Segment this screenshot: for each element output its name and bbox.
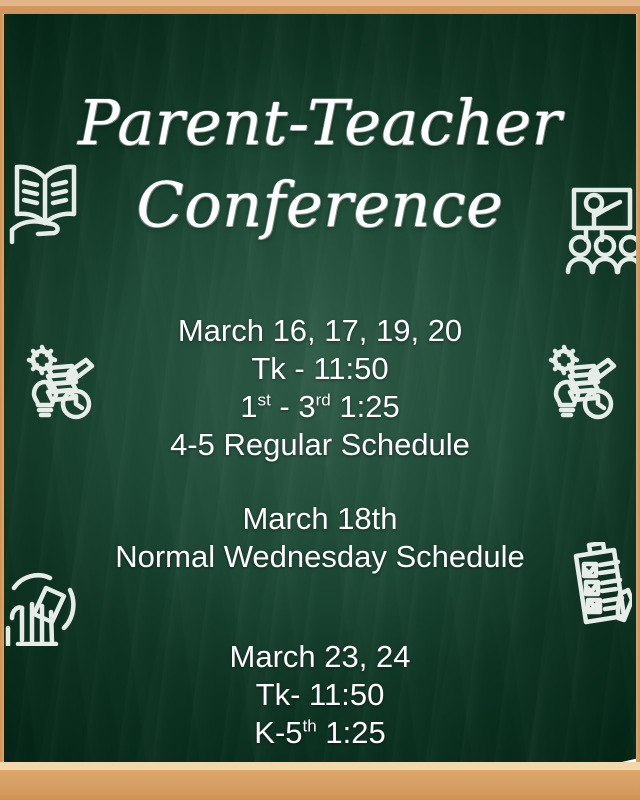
frame-right-edge [636, 0, 640, 800]
title-line-2: Conference [0, 164, 640, 246]
frame-top-edge [0, 0, 640, 14]
schedule-block-march-23-24: March 23, 24 Tk- 11:50 K-5th 1:25 [0, 638, 640, 752]
block-spacer-1 [0, 464, 640, 500]
schedule-line-tk-time: Tk - 11:50 [0, 350, 640, 388]
grade-1-label: 1 [240, 389, 257, 424]
parent-teacher-conference-poster: Parent-Teacher Conference March 16, 17, … [0, 0, 640, 800]
grades-k-5-label: K-5 [254, 715, 302, 750]
block-spacer-2 [0, 576, 640, 638]
schedule-line-grades-k-5-time: K-5th 1:25 [0, 714, 640, 752]
schedule-line-grades-4-5: 4-5 Regular Schedule [0, 426, 640, 464]
schedule-line-march-23-24-dates: March 23, 24 [0, 638, 640, 676]
grades-k-5-time-value: 1:25 [317, 715, 386, 750]
schedule-line-normal-wednesday: Normal Wednesday Schedule [0, 538, 640, 576]
schedule-line-march-18-date: March 18th [0, 500, 640, 538]
schedule-block-march-16-20: March 16, 17, 19, 20 Tk - 11:50 1st - 3r… [0, 312, 640, 464]
schedule-line-tk-time-2: Tk- 11:50 [0, 676, 640, 714]
grade-range-separator: - 3 [271, 389, 316, 424]
schedule-text: March 16, 17, 19, 20 Tk - 11:50 1st - 3r… [0, 312, 640, 752]
title-line-1: Parent-Teacher [78, 86, 562, 159]
grades-1-3-time-value: 1:25 [331, 389, 400, 424]
frame-bottom-ledge [0, 762, 640, 800]
grade-3-ordinal-suffix: rd [316, 391, 331, 410]
schedule-block-march-18: March 18th Normal Wednesday Schedule [0, 500, 640, 576]
grade-5-ordinal-suffix: th [303, 717, 317, 736]
schedule-line-grades-1-3-time: 1st - 3rd 1:25 [0, 388, 640, 426]
grade-1-ordinal-suffix: st [258, 391, 271, 410]
frame-left-edge [0, 0, 4, 800]
schedule-line-dates: March 16, 17, 19, 20 [0, 312, 640, 350]
page-title: Parent-Teacher Conference [0, 82, 640, 246]
